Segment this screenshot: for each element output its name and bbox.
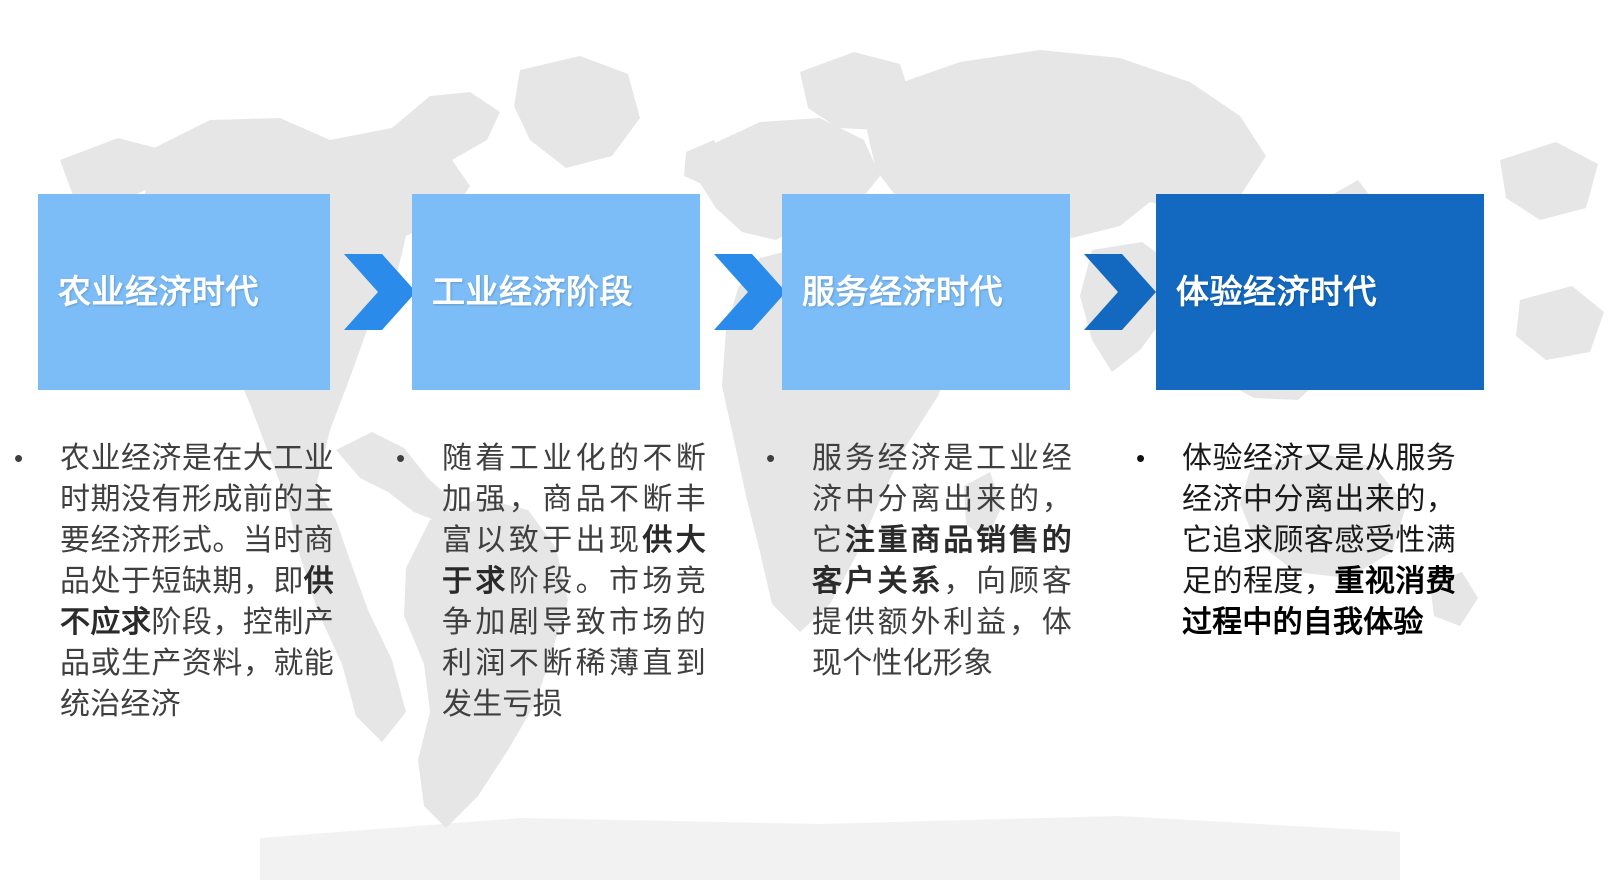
description-column-service: • 服务经济是工业经济中分离出来的，它注重商品销售的客户关系，向顾客提供额外利益… <box>766 438 1072 684</box>
description-text-industry: 随着工业化的不断加强，商品不断丰富以致于出现供大于求阶段。市场竞争加剧导致市场的… <box>442 438 706 725</box>
stage-title-agriculture: 农业经济时代 <box>58 274 259 310</box>
process-flow-row: 农业经济时代 工业经济阶段 服务经济时代 体验经济时代 <box>0 194 1610 390</box>
text-lead: 农业经济是在大工业时期没有形成前的主要经济形式。当时商品处于短缺期，即 <box>60 442 334 598</box>
stage-box-industry[interactable]: 工业经济阶段 <box>412 194 700 390</box>
stage-title-service: 服务经济时代 <box>802 274 1003 310</box>
description-column-experience: • 体验经济又是从服务经济中分离出来的，它追求顾客感受性满足的程度，重视消费过程… <box>1136 438 1456 643</box>
description-column-agriculture: • 农业经济是在大工业时期没有形成前的主要经济形式。当时商品处于短缺期，即供不应… <box>14 438 334 725</box>
description-text-experience: 体验经济又是从服务经济中分离出来的，它追求顾客感受性满足的程度，重视消费过程中的… <box>1182 438 1456 643</box>
chevron-right-icon-1 <box>342 252 418 332</box>
stage-title-industry: 工业经济阶段 <box>432 274 633 310</box>
description-text-agriculture: 农业经济是在大工业时期没有形成前的主要经济形式。当时商品处于短缺期，即供不应求阶… <box>60 438 334 725</box>
chevron-right-icon-3 <box>1082 252 1158 332</box>
chevron-right-icon-2 <box>712 252 788 332</box>
description-column-industry: • 随着工业化的不断加强，商品不断丰富以致于出现供大于求阶段。市场竞争加剧导致市… <box>396 438 706 725</box>
description-text-service: 服务经济是工业经济中分离出来的，它注重商品销售的客户关系，向顾客提供额外利益，体… <box>812 438 1072 684</box>
slide-canvas: 农业经济时代 工业经济阶段 服务经济时代 体验经济时代 <box>0 0 1610 880</box>
bullet-icon: • <box>396 438 406 478</box>
stage-box-agriculture[interactable]: 农业经济时代 <box>38 194 330 390</box>
description-columns: • 农业经济是在大工业时期没有形成前的主要经济形式。当时商品处于短缺期，即供不应… <box>0 438 1610 858</box>
bullet-icon: • <box>1136 438 1146 478</box>
bullet-icon: • <box>14 438 24 478</box>
stage-title-experience: 体验经济时代 <box>1176 274 1377 310</box>
stage-box-service[interactable]: 服务经济时代 <box>782 194 1070 390</box>
stage-box-experience[interactable]: 体验经济时代 <box>1156 194 1484 390</box>
bullet-icon: • <box>766 438 776 478</box>
